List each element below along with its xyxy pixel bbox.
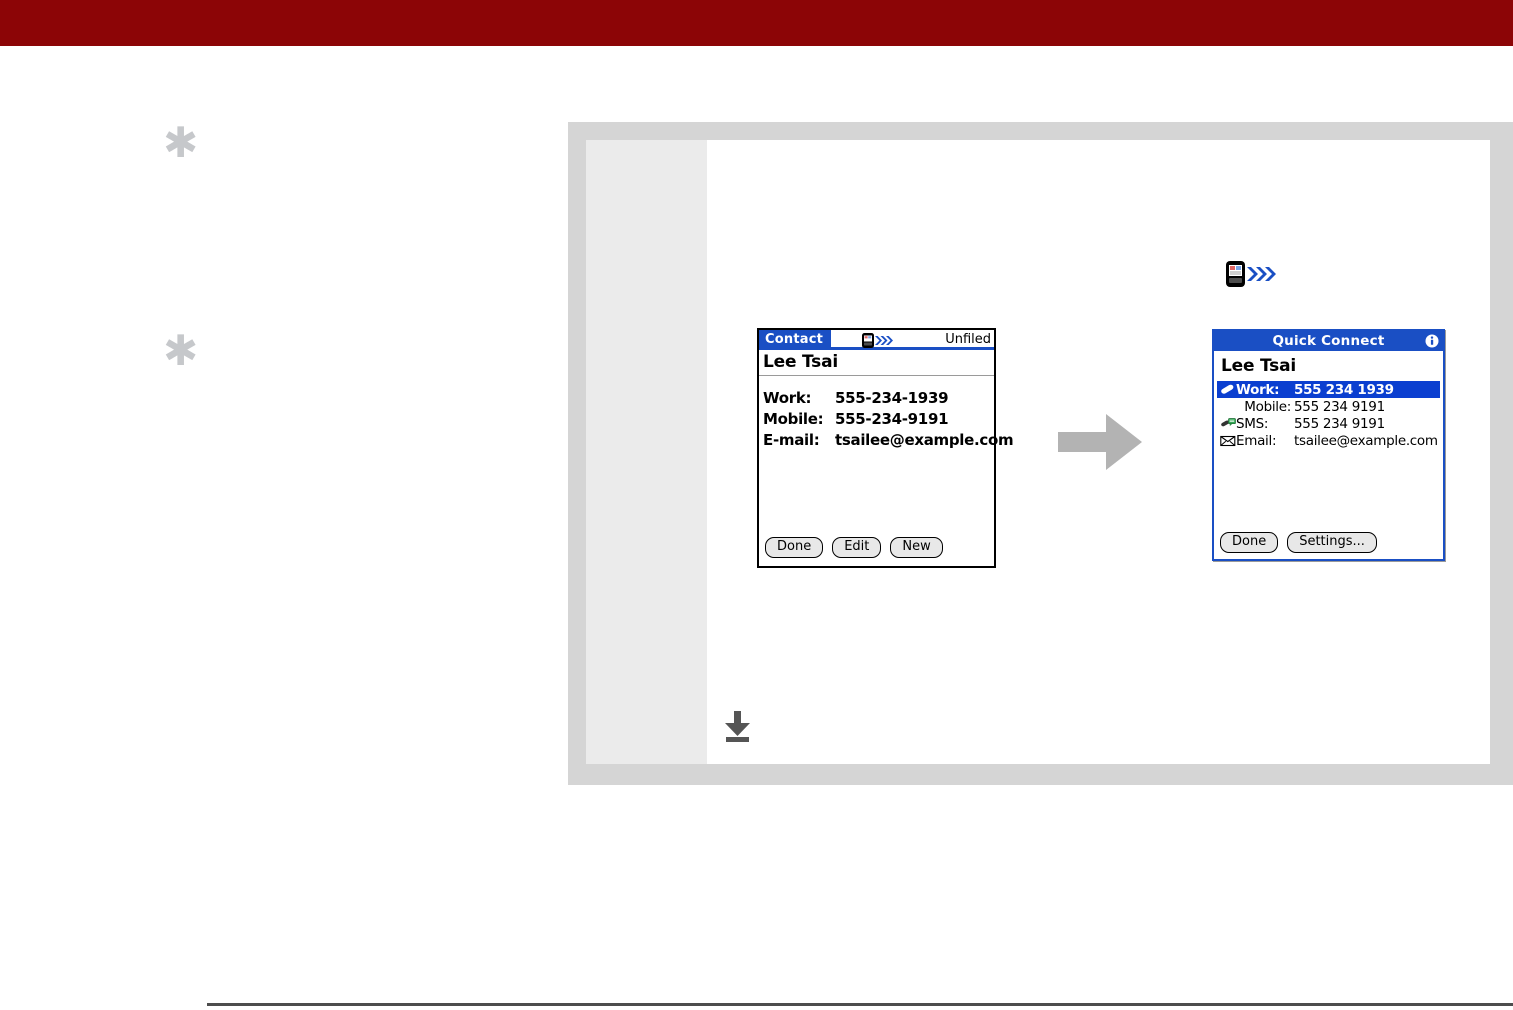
no-icon-placeholder — [1219, 399, 1236, 414]
done-button[interactable]: Done — [1220, 532, 1278, 553]
category-label[interactable]: Unfiled — [945, 330, 991, 350]
field-value: tsailee@example.com — [835, 430, 1013, 451]
sms-icon — [1219, 416, 1236, 431]
quick-connect-list: Work: 555 234 1939 Mobile: 555 234 9191 … — [1214, 381, 1443, 449]
transition-right-arrow-icon — [1058, 408, 1144, 476]
contact-field-row[interactable]: E-mail: tsailee@example.com — [763, 430, 994, 451]
quick-connect-icon — [1224, 259, 1284, 289]
phone-handset-icon — [1219, 382, 1236, 397]
list-item-label: Work: — [1236, 382, 1294, 398]
quick-connect-screen: Quick Connect Lee Tsai Work: 555 234 193… — [1212, 329, 1445, 561]
list-item-value: 555 234 1939 — [1294, 382, 1394, 398]
contact-fields: Work: 555-234-1939 Mobile: 555-234-9191 … — [759, 376, 994, 451]
list-item-email[interactable]: Email: tsailee@example.com — [1217, 432, 1440, 449]
field-label: Mobile: — [763, 409, 835, 430]
list-item-label: SMS: — [1236, 416, 1294, 432]
settings-button[interactable]: Settings... — [1287, 532, 1377, 553]
envelope-icon — [1219, 433, 1236, 448]
field-value: 555-234-1939 — [835, 388, 948, 409]
figure-side-panel — [586, 140, 707, 764]
contact-screen: Contact Unfiled Lee Tsai Work: 555-234-1… — [757, 328, 996, 568]
contact-name: Lee Tsai — [759, 350, 994, 375]
quick-connect-button-bar: Done Settings... — [1220, 532, 1377, 553]
asterisk-bullet-icon-2: ✱ — [163, 330, 198, 372]
contact-field-row[interactable]: Work: 555-234-1939 — [763, 388, 994, 409]
down-arrow-marker-icon — [722, 710, 754, 744]
list-item-value: tsailee@example.com — [1294, 433, 1438, 449]
list-item-value: 555 234 9191 — [1294, 416, 1385, 432]
contact-titlebar: Contact Unfiled — [759, 330, 994, 350]
contact-name: Lee Tsai — [1214, 351, 1443, 381]
list-item-sms[interactable]: SMS: 555 234 9191 — [1217, 415, 1440, 432]
footer-rule — [207, 1003, 1513, 1006]
field-label: E-mail: — [763, 430, 835, 451]
dialog-title: Quick Connect — [1272, 333, 1384, 349]
info-icon[interactable] — [1425, 334, 1439, 348]
list-item-mobile[interactable]: Mobile: 555 234 9191 — [1217, 398, 1440, 415]
list-item-value: 555 234 9191 — [1294, 399, 1385, 415]
quick-connect-icon[interactable] — [861, 332, 899, 349]
new-button[interactable]: New — [890, 537, 942, 558]
field-label: Work: — [763, 388, 835, 409]
list-item-label: Mobile: — [1236, 399, 1294, 415]
quick-connect-titlebar: Quick Connect — [1214, 331, 1443, 351]
done-button[interactable]: Done — [765, 537, 823, 558]
list-item-label: Email: — [1236, 433, 1294, 449]
top-banner — [0, 0, 1513, 46]
asterisk-bullet-icon-1: ✱ — [163, 122, 198, 164]
contact-field-row[interactable]: Mobile: 555-234-9191 — [763, 409, 994, 430]
tab-contact[interactable]: Contact — [759, 330, 831, 350]
list-item-work[interactable]: Work: 555 234 1939 — [1217, 381, 1440, 398]
contact-button-bar: Done Edit New — [765, 537, 943, 558]
edit-button[interactable]: Edit — [832, 537, 881, 558]
field-value: 555-234-9191 — [835, 409, 948, 430]
